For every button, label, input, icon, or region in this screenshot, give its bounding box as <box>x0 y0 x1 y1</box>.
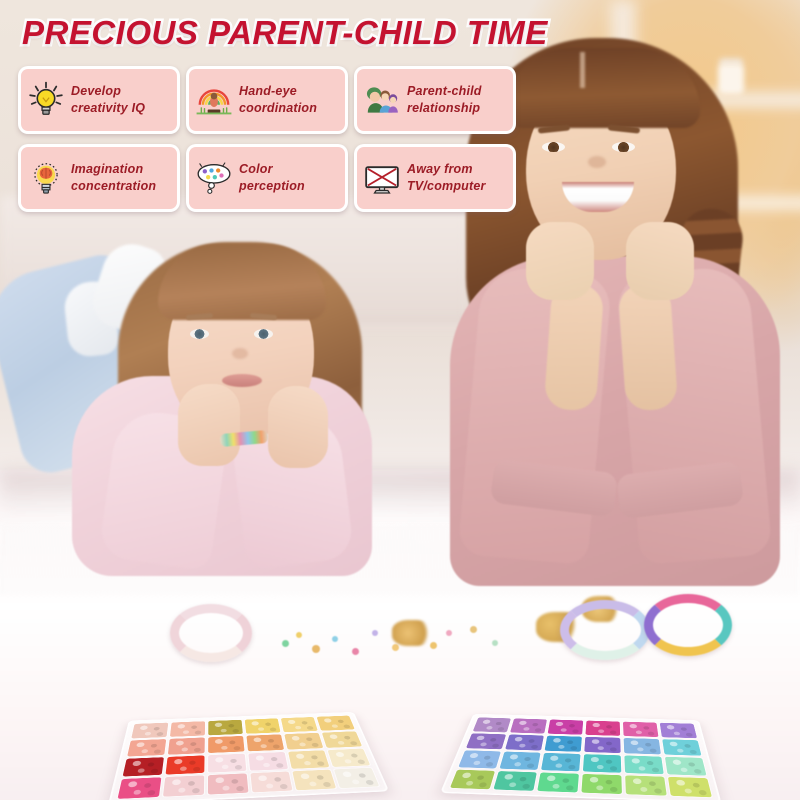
bead-compartment[interactable] <box>623 755 664 775</box>
feature-card-color-perception[interactable]: Color perception <box>186 144 348 212</box>
loose-bead <box>296 632 302 638</box>
bead-compartment[interactable] <box>207 753 247 773</box>
loose-bead <box>332 636 338 642</box>
feature-card-label: Away from TV/computer <box>407 161 486 195</box>
girl-hair-top <box>158 244 326 320</box>
bead-pile <box>505 734 544 750</box>
bead-pile <box>458 750 501 768</box>
gold-findings-cluster <box>392 620 432 646</box>
loose-bead <box>392 644 399 651</box>
loose-bead <box>446 630 452 636</box>
woman-hair-top <box>506 48 700 128</box>
feature-card-hand-eye[interactable]: Hand-eye coordination <box>186 66 348 134</box>
bead-compartment[interactable] <box>536 772 580 794</box>
bead-pile <box>288 750 329 769</box>
loose-bead <box>492 640 498 646</box>
rainbow-icon <box>194 80 234 120</box>
feature-card-label: Develop creativity IQ <box>71 83 145 117</box>
feature-card-grid: Develop creativity IQ <box>18 66 518 212</box>
girl-eye-right <box>254 329 273 339</box>
bead-compartment[interactable] <box>326 748 371 768</box>
bead-pile <box>583 754 621 772</box>
bead-pile <box>163 775 204 796</box>
feature-card-label: Color perception <box>239 161 305 195</box>
bead-pile <box>548 720 584 735</box>
girl-eye-left <box>190 329 209 339</box>
bead-compartment[interactable] <box>207 773 250 796</box>
loose-bead <box>470 626 477 633</box>
brain-bulb-icon <box>26 158 66 198</box>
loose-bead <box>312 645 320 653</box>
bead-pile <box>493 771 537 791</box>
loose-bead <box>430 642 437 649</box>
woman-forearm-left <box>544 282 605 411</box>
bead-pile <box>510 718 547 733</box>
bead-compartment[interactable] <box>580 773 623 795</box>
bead-compartment[interactable] <box>583 736 621 754</box>
lightbulb-icon <box>26 80 66 120</box>
feature-card-label: Imagination concentration <box>71 161 156 195</box>
bead-compartment[interactable] <box>247 751 289 771</box>
loose-bead <box>372 630 378 636</box>
feature-card-away-from-tv[interactable]: Away from TV/computer <box>354 144 516 212</box>
product-poster: PRECIOUS PARENT-CHILD TIME <box>0 0 800 800</box>
girl-mouth <box>222 374 262 387</box>
bead-compartment[interactable] <box>661 738 702 756</box>
warm-bead-box[interactable] <box>108 712 389 800</box>
woman-forearm-right <box>618 282 679 411</box>
bead-pile <box>537 772 579 792</box>
bead-compartment[interactable] <box>207 735 245 753</box>
bead-pile <box>281 717 318 732</box>
family-icon <box>362 80 402 120</box>
bead-pile <box>334 768 379 789</box>
bead-compartment[interactable] <box>472 717 512 733</box>
bead-pile <box>208 736 244 753</box>
bead-compartment[interactable] <box>167 737 206 755</box>
bead-pile <box>208 754 246 773</box>
bead-pile <box>584 737 620 754</box>
bead-pile <box>166 755 205 774</box>
bead-compartment[interactable] <box>169 721 206 738</box>
bead-compartment[interactable] <box>116 777 162 800</box>
feature-card-label: Hand-eye coordination <box>239 83 317 117</box>
bead-compartment[interactable] <box>244 718 282 734</box>
bead-compartment[interactable] <box>280 716 319 732</box>
bead-pile <box>625 775 667 796</box>
bead-compartment[interactable] <box>659 722 698 738</box>
woman-nose <box>588 156 606 168</box>
bead-pile <box>585 721 620 736</box>
palette-thought-icon <box>194 158 234 198</box>
bead-compartment[interactable] <box>449 769 497 790</box>
bead-pile <box>624 738 661 755</box>
bead-pile <box>623 722 658 737</box>
bead-compartment[interactable] <box>585 720 621 736</box>
no-tv-icon <box>362 158 402 198</box>
bead-compartment[interactable] <box>582 754 622 774</box>
girl-hand-right <box>268 386 328 468</box>
bead-compartment[interactable] <box>249 771 293 793</box>
bead-pile <box>662 739 701 756</box>
bead-pile <box>322 731 362 748</box>
bead-pile <box>317 716 355 731</box>
bead-compartment[interactable] <box>498 751 541 770</box>
bead-pile <box>500 752 541 770</box>
bead-compartment[interactable] <box>540 752 581 771</box>
woman-hand-right <box>626 222 694 300</box>
bead-compartment[interactable] <box>509 718 548 734</box>
pink-white-bracelet <box>170 604 252 662</box>
bead-compartment[interactable] <box>130 722 169 739</box>
bead-pile <box>131 723 168 739</box>
bead-pile <box>117 777 161 799</box>
bead-compartment[interactable] <box>624 774 668 796</box>
bead-pile <box>123 757 164 776</box>
loose-bead <box>282 640 289 647</box>
bead-pile <box>660 723 697 738</box>
bead-compartment[interactable] <box>287 750 330 770</box>
bead-compartment[interactable] <box>547 719 584 735</box>
bead-compartment[interactable] <box>126 738 167 757</box>
bead-pile <box>284 733 323 750</box>
feature-card-develop-creativity[interactable]: Develop creativity IQ <box>18 66 180 134</box>
page-title: PRECIOUS PARENT-CHILD TIME <box>22 14 542 52</box>
woman-hair-part <box>580 52 585 88</box>
woman-eye-left <box>542 142 565 152</box>
bead-pile <box>545 735 582 751</box>
girl-hand-left <box>178 384 240 466</box>
feature-card-parent-child[interactable]: Parent-child relationship <box>354 66 516 134</box>
cool-bead-box[interactable] <box>440 714 722 800</box>
pastel-purple-blue-bracelet <box>560 600 650 660</box>
feature-card-label: Parent-child relationship <box>407 83 482 117</box>
bead-compartment[interactable] <box>623 737 662 755</box>
bead-compartment[interactable] <box>492 770 538 791</box>
bead-pile <box>168 737 205 754</box>
bead-compartment[interactable] <box>246 734 286 752</box>
bead-pile <box>541 753 580 771</box>
bead-pile <box>473 717 511 732</box>
bead-compartment[interactable] <box>622 721 659 737</box>
bead-pile <box>245 718 281 733</box>
bead-compartment[interactable] <box>207 719 243 736</box>
woman-eye-right <box>612 142 635 152</box>
bead-pile <box>127 739 166 756</box>
bead-pile <box>292 770 336 791</box>
loose-bead <box>352 648 359 655</box>
bead-pile <box>246 734 284 751</box>
bead-compartment[interactable] <box>121 757 164 778</box>
bead-compartment[interactable] <box>164 755 205 775</box>
bead-compartment[interactable] <box>465 733 507 750</box>
bead-compartment[interactable] <box>667 776 713 798</box>
bead-pile <box>665 757 707 776</box>
bead-compartment[interactable] <box>291 769 337 791</box>
rainbow-bracelet <box>644 594 732 656</box>
bead-compartment[interactable] <box>504 734 545 751</box>
bead-pile <box>208 773 249 794</box>
bead-pile <box>624 755 663 773</box>
bead-pile <box>581 774 622 794</box>
girl-nose <box>232 348 248 359</box>
bead-compartment[interactable] <box>544 735 583 753</box>
bead-pile <box>668 777 712 798</box>
feature-card-imagination[interactable]: Imagination concentration <box>18 144 180 212</box>
bead-pile <box>208 720 243 736</box>
bead-pile <box>250 771 292 792</box>
bead-compartment[interactable] <box>333 767 381 789</box>
bead-pile <box>248 752 288 771</box>
bead-pile <box>170 721 205 737</box>
bead-compartment[interactable] <box>162 775 205 798</box>
bead-compartment[interactable] <box>457 750 502 769</box>
girl-figure <box>0 236 382 566</box>
bead-pile <box>466 733 506 749</box>
woman-hand-left <box>526 222 594 300</box>
bead-compartment[interactable] <box>321 731 363 749</box>
bead-compartment[interactable] <box>283 732 324 750</box>
bead-pile <box>328 749 371 767</box>
bead-compartment[interactable] <box>316 715 356 731</box>
bead-compartment[interactable] <box>664 756 708 776</box>
bead-pile <box>450 769 495 789</box>
